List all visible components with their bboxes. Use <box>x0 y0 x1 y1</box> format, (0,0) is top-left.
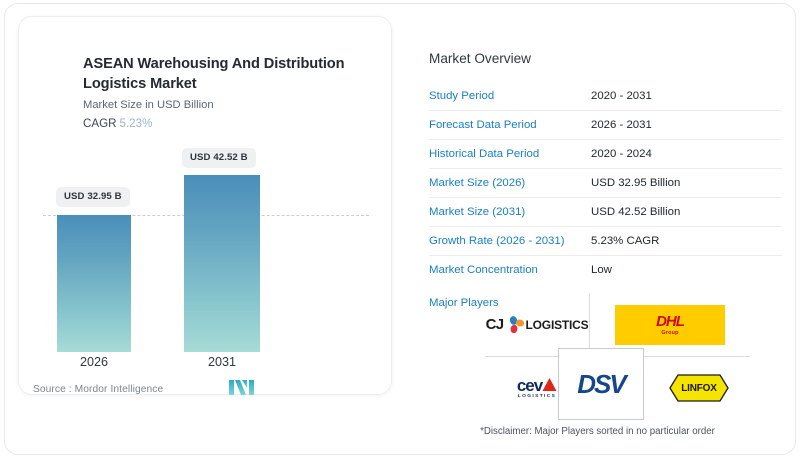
mordor-intelligence-logo <box>229 379 255 401</box>
row-value-growth-rate: 5.23% CAGR <box>591 227 782 256</box>
row-value-market-size-2031: USD 42.52 Billion <box>591 198 782 227</box>
row-value-market-concentration: Low <box>591 256 782 285</box>
bar-label-2031: USD 42.52 B <box>182 148 256 168</box>
cagr-label: CAGR <box>83 117 117 130</box>
row-label-growth-rate: Growth Rate (2026 - 2031) <box>429 227 591 256</box>
table-row: Market Concentration Low <box>429 256 782 285</box>
row-value-market-size-2026: USD 32.95 Billion <box>591 169 782 198</box>
row-value-historical-data-period: 2020 - 2024 <box>591 140 782 169</box>
linfox-text: LINFOX <box>681 383 716 394</box>
table-row: Forecast Data Period 2026 - 2031 <box>429 111 782 140</box>
dsv-text: DSV <box>577 369 624 400</box>
row-label-market-size-2031: Market Size (2031) <box>429 198 591 227</box>
row-label-forecast-data-period: Forecast Data Period <box>429 111 591 140</box>
logo-linfox: LINFOX <box>648 357 750 419</box>
row-label-historical-data-period: Historical Data Period <box>429 140 591 169</box>
row-value-forecast-data-period: 2026 - 2031 <box>591 111 782 140</box>
ceva-logistics-suffix: LOGISTICS <box>518 394 556 399</box>
table-row: Market Size (2026) USD 32.95 Billion <box>429 169 782 198</box>
report-card-frame: ASEAN Warehousing And Distribution Logis… <box>4 3 796 455</box>
bar-2031 <box>184 175 260 352</box>
table-row: Study Period 2020 - 2031 <box>429 82 782 111</box>
row-label-study-period: Study Period <box>429 82 591 111</box>
bar-2026 <box>57 215 131 352</box>
cj-flower-icon <box>505 315 525 335</box>
dhl-group-text: Group <box>661 330 678 336</box>
source-text: Source : Mordor Intelligence <box>33 384 163 395</box>
bar-label-2026: USD 32.95 B <box>56 187 130 207</box>
logo-cj-logistics: CJ LOGISTICS <box>485 293 589 356</box>
row-value-study-period: 2020 - 2031 <box>591 82 782 111</box>
cj-logistics-suffix: LOGISTICS <box>526 318 589 332</box>
x-axis-label-2031: 2031 <box>182 355 262 369</box>
chart-card: ASEAN Warehousing And Distribution Logis… <box>18 16 392 395</box>
ceva-triangle-icon <box>542 377 557 392</box>
x-axis-label-2026: 2026 <box>57 355 131 369</box>
table-row: Growth Rate (2026 - 2031) 5.23% CAGR <box>429 227 782 256</box>
dhl-text: DHL <box>656 314 684 329</box>
chart-cagr: CAGR5.23% <box>83 117 152 130</box>
major-players-logo-grid: CJ LOGISTICS DHL Group <box>485 293 750 419</box>
market-overview-panel: Market Overview Study Period 2020 - 2031… <box>410 16 785 446</box>
market-overview-table: Study Period 2020 - 2031 Forecast Data P… <box>429 82 782 284</box>
table-row: Historical Data Period 2020 - 2024 <box>429 140 782 169</box>
row-label-market-concentration: Market Concentration <box>429 256 591 285</box>
overview-heading: Market Overview <box>429 51 531 66</box>
table-row: Market Size (2031) USD 42.52 Billion <box>429 198 782 227</box>
logo-dhl: DHL Group <box>590 293 750 356</box>
ceva-text: cev <box>517 378 542 393</box>
logo-dsv: DSV <box>558 348 644 420</box>
cj-logistics-text: CJ <box>486 316 504 333</box>
page-title: ASEAN Warehousing And Distribution Logis… <box>83 55 373 94</box>
cagr-value: 5.23% <box>117 117 153 130</box>
disclaimer-text: *Disclaimer: Major Players sorted in no … <box>410 426 785 437</box>
chart-subtitle: Market Size in USD Billion <box>83 99 214 111</box>
row-label-market-size-2026: Market Size (2026) <box>429 169 591 198</box>
bar-chart-plot: USD 32.95 B USD 42.52 B 2026 2031 Source… <box>19 147 393 352</box>
